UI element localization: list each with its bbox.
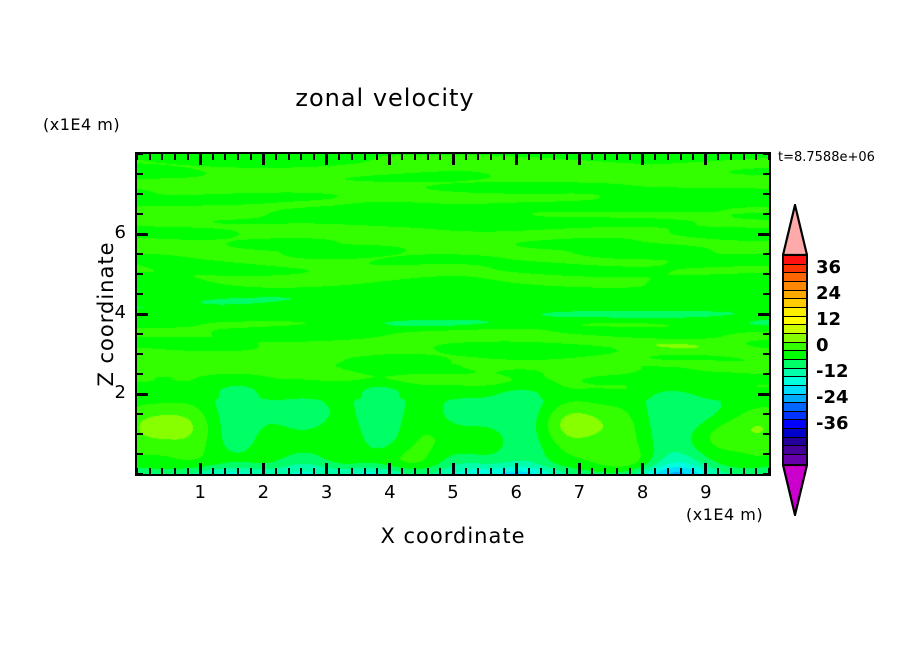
page-title: zonal velocity [0, 84, 770, 112]
axis-tick [704, 463, 707, 474]
axis-tick [275, 154, 277, 160]
axis-tick [553, 468, 555, 474]
axis-tick [578, 463, 581, 474]
axis-tick [300, 468, 302, 474]
axis-tick [137, 293, 143, 295]
colorbar-band [784, 369, 806, 378]
axis-tick [212, 154, 214, 160]
y-axis-unit-label: (x1E4 m) [43, 115, 120, 134]
axis-tick [212, 468, 214, 474]
x-tick-label: 6 [496, 482, 536, 503]
axis-tick [376, 154, 378, 160]
axis-tick [187, 468, 189, 474]
axis-tick [224, 154, 226, 160]
axis-tick [325, 463, 328, 474]
axis-tick [414, 154, 416, 160]
x-tick-label: 8 [623, 482, 663, 503]
axis-tick [667, 468, 669, 474]
colorbar-band [784, 273, 806, 282]
colorbar-tick-label: 0 [816, 335, 829, 356]
axis-tick [288, 154, 290, 160]
axis-tick [763, 193, 769, 195]
axis-tick [401, 468, 403, 474]
x-tick-label: 7 [559, 482, 599, 503]
axis-tick [758, 393, 769, 396]
axis-tick [137, 193, 143, 195]
axis-tick [763, 253, 769, 255]
axis-tick [137, 373, 143, 375]
axis-tick [763, 333, 769, 335]
axis-tick [325, 154, 328, 165]
colorbar-bottom-arrow-icon [782, 464, 808, 516]
axis-tick [137, 413, 143, 415]
axis-tick [641, 154, 644, 165]
axis-tick [388, 463, 391, 474]
axis-tick [704, 154, 707, 165]
axis-tick [452, 154, 455, 165]
axis-tick [439, 154, 441, 160]
axis-tick [654, 154, 656, 160]
x-tick-label: 4 [370, 482, 410, 503]
axis-tick [262, 154, 265, 165]
axis-tick [743, 154, 745, 160]
colorbar-band [784, 455, 806, 464]
axis-tick [137, 393, 148, 396]
axis-tick [641, 463, 644, 474]
colorbar-tick-label: -12 [816, 361, 849, 382]
axis-tick [137, 233, 148, 236]
axis-tick [149, 468, 151, 474]
axis-tick [149, 154, 151, 160]
axis-tick [477, 468, 479, 474]
axis-tick [187, 154, 189, 160]
axis-tick [528, 154, 530, 160]
axis-tick [137, 213, 143, 215]
axis-tick [540, 154, 542, 160]
colorbar-tick-label: -24 [816, 387, 849, 408]
axis-tick [174, 468, 176, 474]
axis-tick [654, 468, 656, 474]
axis-tick [300, 154, 302, 160]
colorbar-band [784, 395, 806, 404]
axis-tick [364, 154, 366, 160]
axis-tick [338, 154, 340, 160]
axis-tick [758, 313, 769, 316]
axis-tick [427, 468, 429, 474]
axis-tick [250, 468, 252, 474]
axis-tick [763, 213, 769, 215]
axis-tick [137, 273, 143, 275]
axis-tick [237, 468, 239, 474]
axis-tick [439, 468, 441, 474]
colorbar-tick-label: 24 [816, 283, 841, 304]
colorbar-band [784, 351, 806, 360]
axis-tick [528, 468, 530, 474]
axis-tick [629, 468, 631, 474]
axis-tick [465, 154, 467, 160]
axis-tick [364, 468, 366, 474]
axis-tick [224, 468, 226, 474]
axis-tick [763, 273, 769, 275]
colorbar-band [784, 420, 806, 429]
x-axis-unit-label: (x1E4 m) [686, 505, 763, 524]
x-tick-label: 3 [307, 482, 347, 503]
colorbar-band [784, 403, 806, 412]
axis-tick [250, 154, 252, 160]
axis-tick [137, 313, 148, 316]
colorbar-band [784, 325, 806, 334]
axis-tick [743, 468, 745, 474]
axis-tick [275, 468, 277, 474]
axis-tick [616, 154, 618, 160]
axis-tick [351, 154, 353, 160]
axis-tick [616, 468, 618, 474]
axis-tick [137, 353, 143, 355]
axis-tick [161, 154, 163, 160]
axis-tick [414, 468, 416, 474]
colorbar-tick-label: 12 [816, 309, 841, 330]
axis-tick [692, 154, 694, 160]
x-tick-label: 1 [180, 482, 220, 503]
colorbar-band [784, 429, 806, 438]
axis-tick [137, 153, 143, 155]
colorbar-band [784, 265, 806, 274]
axis-tick [591, 154, 593, 160]
axis-tick [174, 154, 176, 160]
axis-tick [578, 154, 581, 165]
axis-tick [591, 468, 593, 474]
colorbar-top-arrow-icon [782, 204, 808, 256]
axis-tick [199, 154, 202, 165]
axis-tick [717, 154, 719, 160]
axis-tick [763, 433, 769, 435]
axis-tick [763, 413, 769, 415]
axis-tick [540, 468, 542, 474]
x-tick-label: 5 [433, 482, 473, 503]
axis-tick [401, 154, 403, 160]
axis-tick [137, 453, 143, 455]
axis-tick [503, 154, 505, 160]
axis-tick [503, 468, 505, 474]
y-tick-label: 2 [86, 382, 126, 403]
axis-tick [376, 468, 378, 474]
axis-tick [137, 333, 143, 335]
axis-tick [351, 468, 353, 474]
axis-tick [763, 373, 769, 375]
x-tick-label: 9 [686, 482, 726, 503]
colorbar-band [784, 282, 806, 291]
colorbar-band [784, 317, 806, 326]
y-tick-label: 6 [86, 222, 126, 243]
axis-tick [137, 473, 143, 475]
axis-tick [338, 468, 340, 474]
colorbar-band [784, 308, 806, 317]
axis-tick [763, 473, 769, 475]
axis-tick [604, 468, 606, 474]
axis-tick [755, 468, 757, 474]
axis-tick [427, 154, 429, 160]
x-axis-title: X coordinate [135, 524, 771, 548]
axis-tick [490, 154, 492, 160]
time-annotation: t=8.7588e+06 [778, 150, 875, 165]
axis-tick [137, 253, 143, 255]
axis-tick [763, 353, 769, 355]
colorbar-band [784, 334, 806, 343]
colorbar-bands [782, 254, 808, 466]
colorbar-band [784, 343, 806, 352]
axis-tick [199, 463, 202, 474]
axis-tick [313, 154, 315, 160]
axis-tick [515, 154, 518, 165]
axis-tick [755, 154, 757, 160]
colorbar-band [784, 438, 806, 447]
axis-tick [262, 463, 265, 474]
axis-tick [161, 468, 163, 474]
axis-tick [515, 463, 518, 474]
axis-tick [692, 468, 694, 474]
axis-tick [477, 154, 479, 160]
axis-tick [566, 468, 568, 474]
axis-tick [763, 153, 769, 155]
axis-tick [763, 293, 769, 295]
axis-tick [763, 453, 769, 455]
axis-tick [465, 468, 467, 474]
axis-tick [763, 173, 769, 175]
axis-tick [629, 154, 631, 160]
y-tick-label: 4 [86, 302, 126, 323]
colorbar-band [784, 299, 806, 308]
axis-tick [758, 233, 769, 236]
axis-tick [490, 468, 492, 474]
colorbar-band [784, 377, 806, 386]
axis-tick [680, 468, 682, 474]
colorbar-band [784, 412, 806, 421]
colorbar-band [784, 360, 806, 369]
axis-tick [313, 468, 315, 474]
colorbar-band [784, 386, 806, 395]
axis-tick [137, 173, 143, 175]
colorbar[interactable] [782, 204, 808, 516]
axis-tick [730, 468, 732, 474]
axis-tick [237, 154, 239, 160]
axis-tick [717, 468, 719, 474]
axis-tick [604, 154, 606, 160]
axis-tick [553, 154, 555, 160]
axis-tick [288, 468, 290, 474]
axis-tick [730, 154, 732, 160]
axis-tick [137, 433, 143, 435]
contour-plot-area[interactable] [135, 152, 771, 476]
axis-tick [566, 154, 568, 160]
colorbar-tick-label: -36 [816, 413, 849, 434]
axis-tick [452, 463, 455, 474]
axis-tick [667, 154, 669, 160]
colorbar-band [784, 291, 806, 300]
colorbar-band [784, 256, 806, 265]
colorbar-band [784, 446, 806, 455]
colorbar-tick-label: 36 [816, 257, 841, 278]
contour-field-canvas [137, 154, 769, 474]
axis-tick [388, 154, 391, 165]
axis-tick [680, 154, 682, 160]
x-tick-label: 2 [243, 482, 283, 503]
